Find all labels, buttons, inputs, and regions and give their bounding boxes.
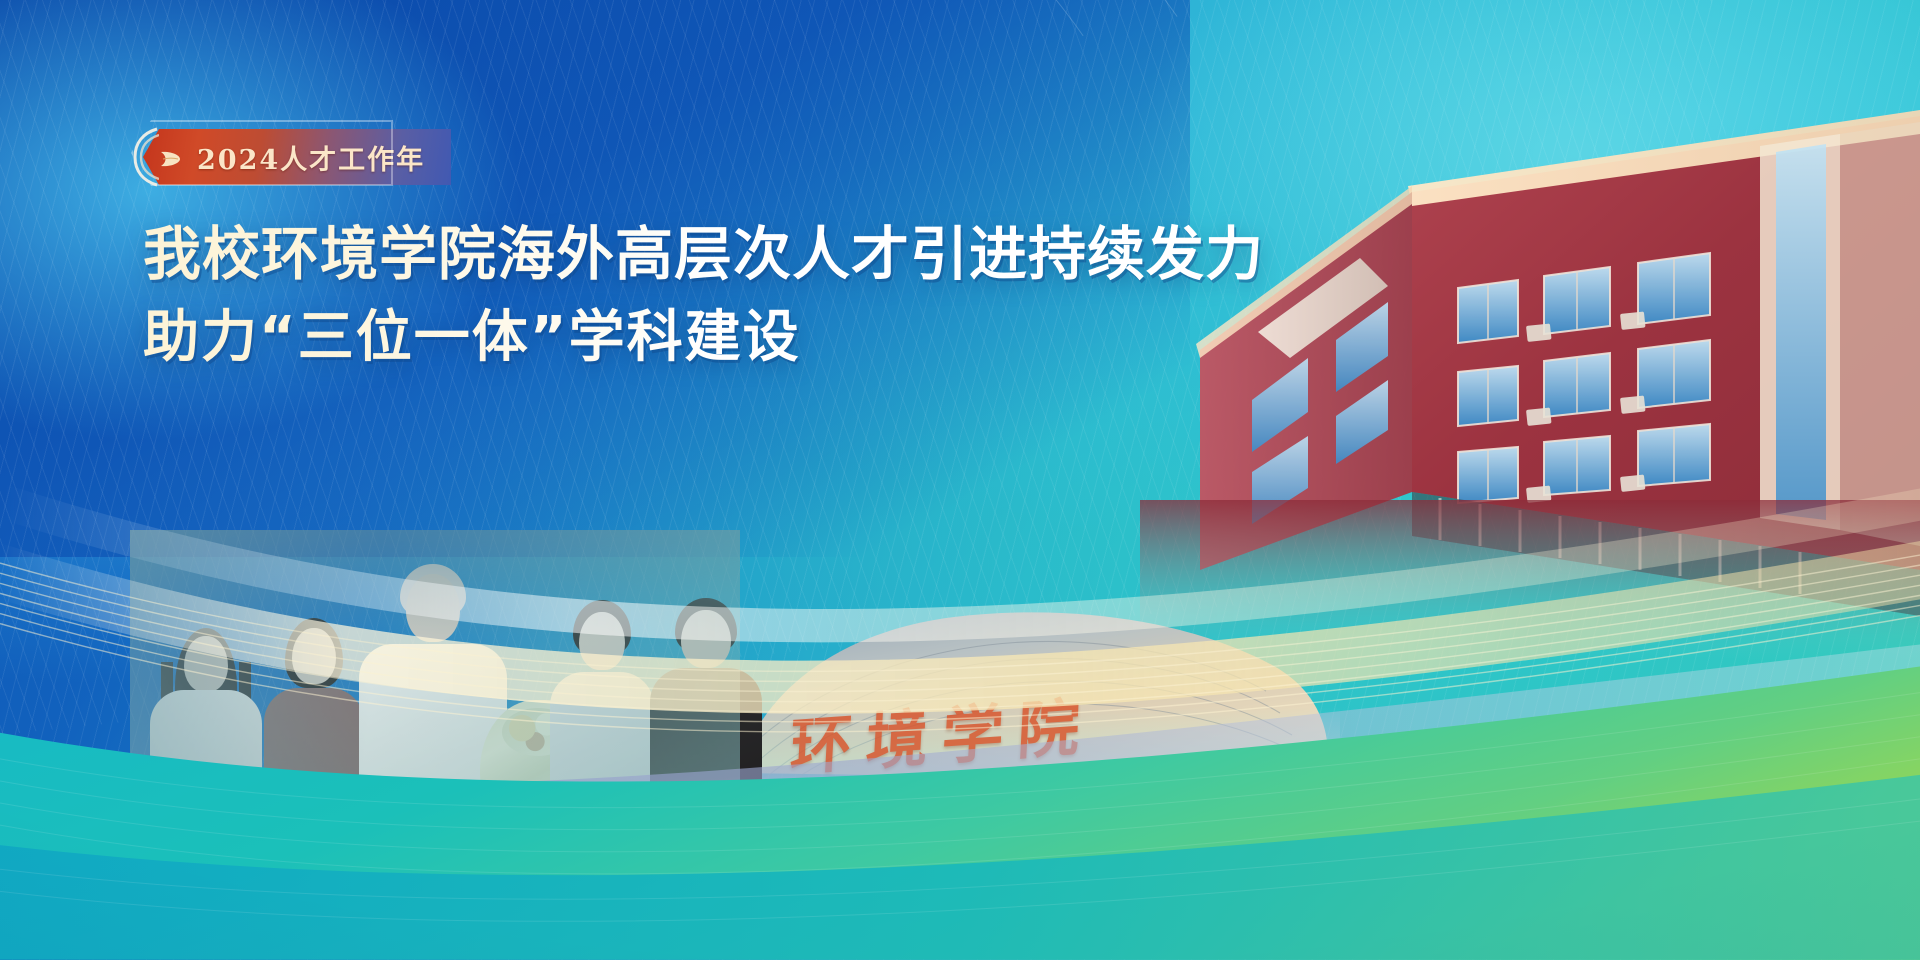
headline: 我校环境学院海外高层次人才引进持续发力 助力“三位一体”学科建设 — [143, 212, 1264, 380]
year-badge: 2024人才工作年 — [143, 129, 451, 185]
headline-line-1: 我校环境学院海外高层次人才引进持续发力 — [143, 212, 1264, 296]
year-badge-label: 2024人才工作年 — [197, 138, 425, 177]
headline-line-2: 助力“三位一体”学科建设 — [143, 296, 1264, 380]
banner-root: 环境学院 — [0, 0, 1920, 960]
year-badge-plate: 2024人才工作年 — [143, 129, 451, 185]
bottom-waves — [0, 518, 1920, 960]
